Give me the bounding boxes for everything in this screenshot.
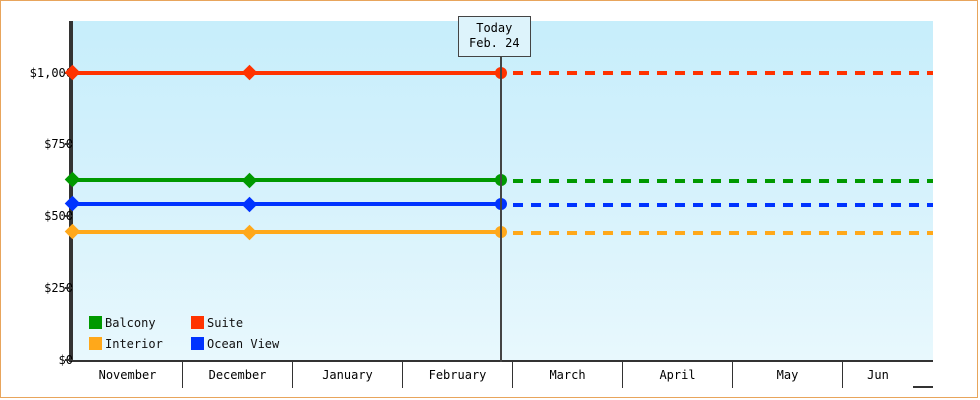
- y-tick-label: $1,000: [11, 67, 73, 79]
- legend-label: Suite: [207, 316, 243, 330]
- legend-label: Balcony: [105, 316, 156, 330]
- series-line-suite-forecast: [513, 71, 933, 75]
- legend-item-balcony[interactable]: Balcony: [89, 312, 185, 333]
- month-cell-december[interactable]: December: [183, 362, 293, 388]
- y-tick-mark: [65, 359, 73, 361]
- legend-item-suite[interactable]: Suite: [191, 312, 279, 333]
- series-line-balcony-forecast: [513, 179, 933, 183]
- y-tick-mark: [65, 287, 73, 289]
- legend-swatch-icon: [89, 337, 102, 350]
- legend-item-interior[interactable]: Interior: [89, 333, 185, 354]
- today-annotation-line2: Feb. 24: [469, 36, 520, 51]
- series-line-suite-past: [71, 71, 503, 75]
- series-line-interior-past: [71, 230, 503, 234]
- legend-swatch-icon: [191, 316, 204, 329]
- legend-label: Interior: [105, 337, 163, 351]
- today-annotation-box[interactable]: Today Feb. 24: [458, 16, 531, 57]
- month-cell-jun[interactable]: Jun: [843, 362, 913, 388]
- legend-swatch-icon: [89, 316, 102, 329]
- month-cell-february[interactable]: February: [403, 362, 513, 388]
- month-cell-march[interactable]: March: [513, 362, 623, 388]
- series-line-ocean-view-past: [71, 202, 503, 206]
- month-cell-april[interactable]: April: [623, 362, 733, 388]
- today-annotation-line1: Today: [469, 21, 520, 36]
- today-vertical-line: [500, 56, 502, 362]
- y-tick-mark: [65, 215, 73, 217]
- month-axis-band: November December January February March…: [73, 362, 933, 388]
- series-line-balcony-past: [71, 178, 503, 182]
- price-forecast-chart: $1,000 $750 $500 $250 $0 Today Feb. 24: [0, 0, 978, 398]
- month-cell-january[interactable]: January: [293, 362, 403, 388]
- series-line-ocean-view-forecast: [513, 203, 933, 207]
- y-tick-label: $500: [11, 210, 73, 222]
- month-cell-may[interactable]: May: [733, 362, 843, 388]
- legend: Balcony Suite Interior Ocean View: [89, 312, 279, 354]
- y-tick-label: $250: [11, 282, 73, 294]
- legend-label: Ocean View: [207, 337, 279, 351]
- series-line-interior-forecast: [513, 231, 933, 235]
- legend-item-ocean-view[interactable]: Ocean View: [191, 333, 279, 354]
- month-cell-november[interactable]: November: [73, 362, 183, 388]
- y-tick-mark: [65, 143, 73, 145]
- y-tick-label: $750: [11, 138, 73, 150]
- legend-swatch-icon: [191, 337, 204, 350]
- y-tick-label: $0: [11, 354, 73, 366]
